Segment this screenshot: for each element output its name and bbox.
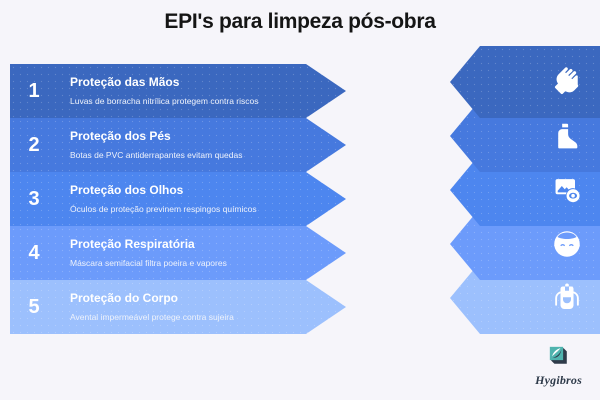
step-text-block: Proteção Respiratória Máscara semifacial… (58, 237, 227, 269)
face-mask-icon (552, 229, 582, 259)
step-row[interactable]: 5 Proteção do Corpo Avental impermeável … (10, 280, 346, 334)
step-text-block: Proteção das Mãos Luvas de borracha nitr… (58, 75, 259, 107)
icon-panels (450, 46, 600, 334)
step-title: Proteção dos Pés (70, 129, 242, 145)
step-number: 1 (10, 80, 58, 103)
step-title: Proteção das Mãos (70, 75, 259, 91)
goggles-eye-icon (553, 176, 582, 205)
glove-icon (552, 67, 582, 97)
step-row[interactable]: 3 Proteção dos Olhos Óculos de proteção … (10, 172, 346, 226)
step-number: 3 (10, 188, 58, 211)
step-description: Luvas de borracha nitrílica protegem con… (70, 96, 259, 107)
step-title: Proteção Respiratória (70, 237, 227, 253)
step-number: 5 (10, 296, 58, 319)
icon-panel[interactable] (450, 46, 600, 118)
step-number: 2 (10, 134, 58, 157)
step-description: Avental impermeável protege contra sujei… (70, 312, 234, 323)
hygibros-mark-icon (548, 345, 570, 372)
page-title: EPI's para limpeza pós-obra (0, 10, 600, 34)
step-title: Proteção dos Olhos (70, 183, 257, 199)
brand-logo: Hygibros (535, 345, 582, 388)
step-text-block: Proteção dos Olhos Óculos de proteção pr… (58, 183, 257, 215)
step-text-block: Proteção do Corpo Avental impermeável pr… (58, 291, 234, 323)
apron-icon (552, 283, 582, 313)
step-title: Proteção do Corpo (70, 291, 234, 307)
step-description: Máscara semifacial filtra poeira e vapor… (70, 258, 227, 269)
step-row[interactable]: 2 Proteção dos Pés Botas de PVC antiderr… (10, 118, 346, 172)
step-description: Botas de PVC antiderrapantes evitam qued… (70, 150, 242, 161)
step-row[interactable]: 1 Proteção das Mãos Luvas de borracha ni… (10, 64, 346, 118)
step-number: 4 (10, 242, 58, 265)
step-row[interactable]: 4 Proteção Respiratória Máscara semifaci… (10, 226, 346, 280)
boot-icon (554, 122, 582, 150)
step-description: Óculos de proteção previnem respingos qu… (70, 204, 257, 215)
step-text-block: Proteção dos Pés Botas de PVC antiderrap… (58, 129, 242, 161)
brand-name: Hygibros (535, 373, 582, 388)
steps-list: 1 Proteção das Mãos Luvas de borracha ni… (10, 64, 346, 334)
